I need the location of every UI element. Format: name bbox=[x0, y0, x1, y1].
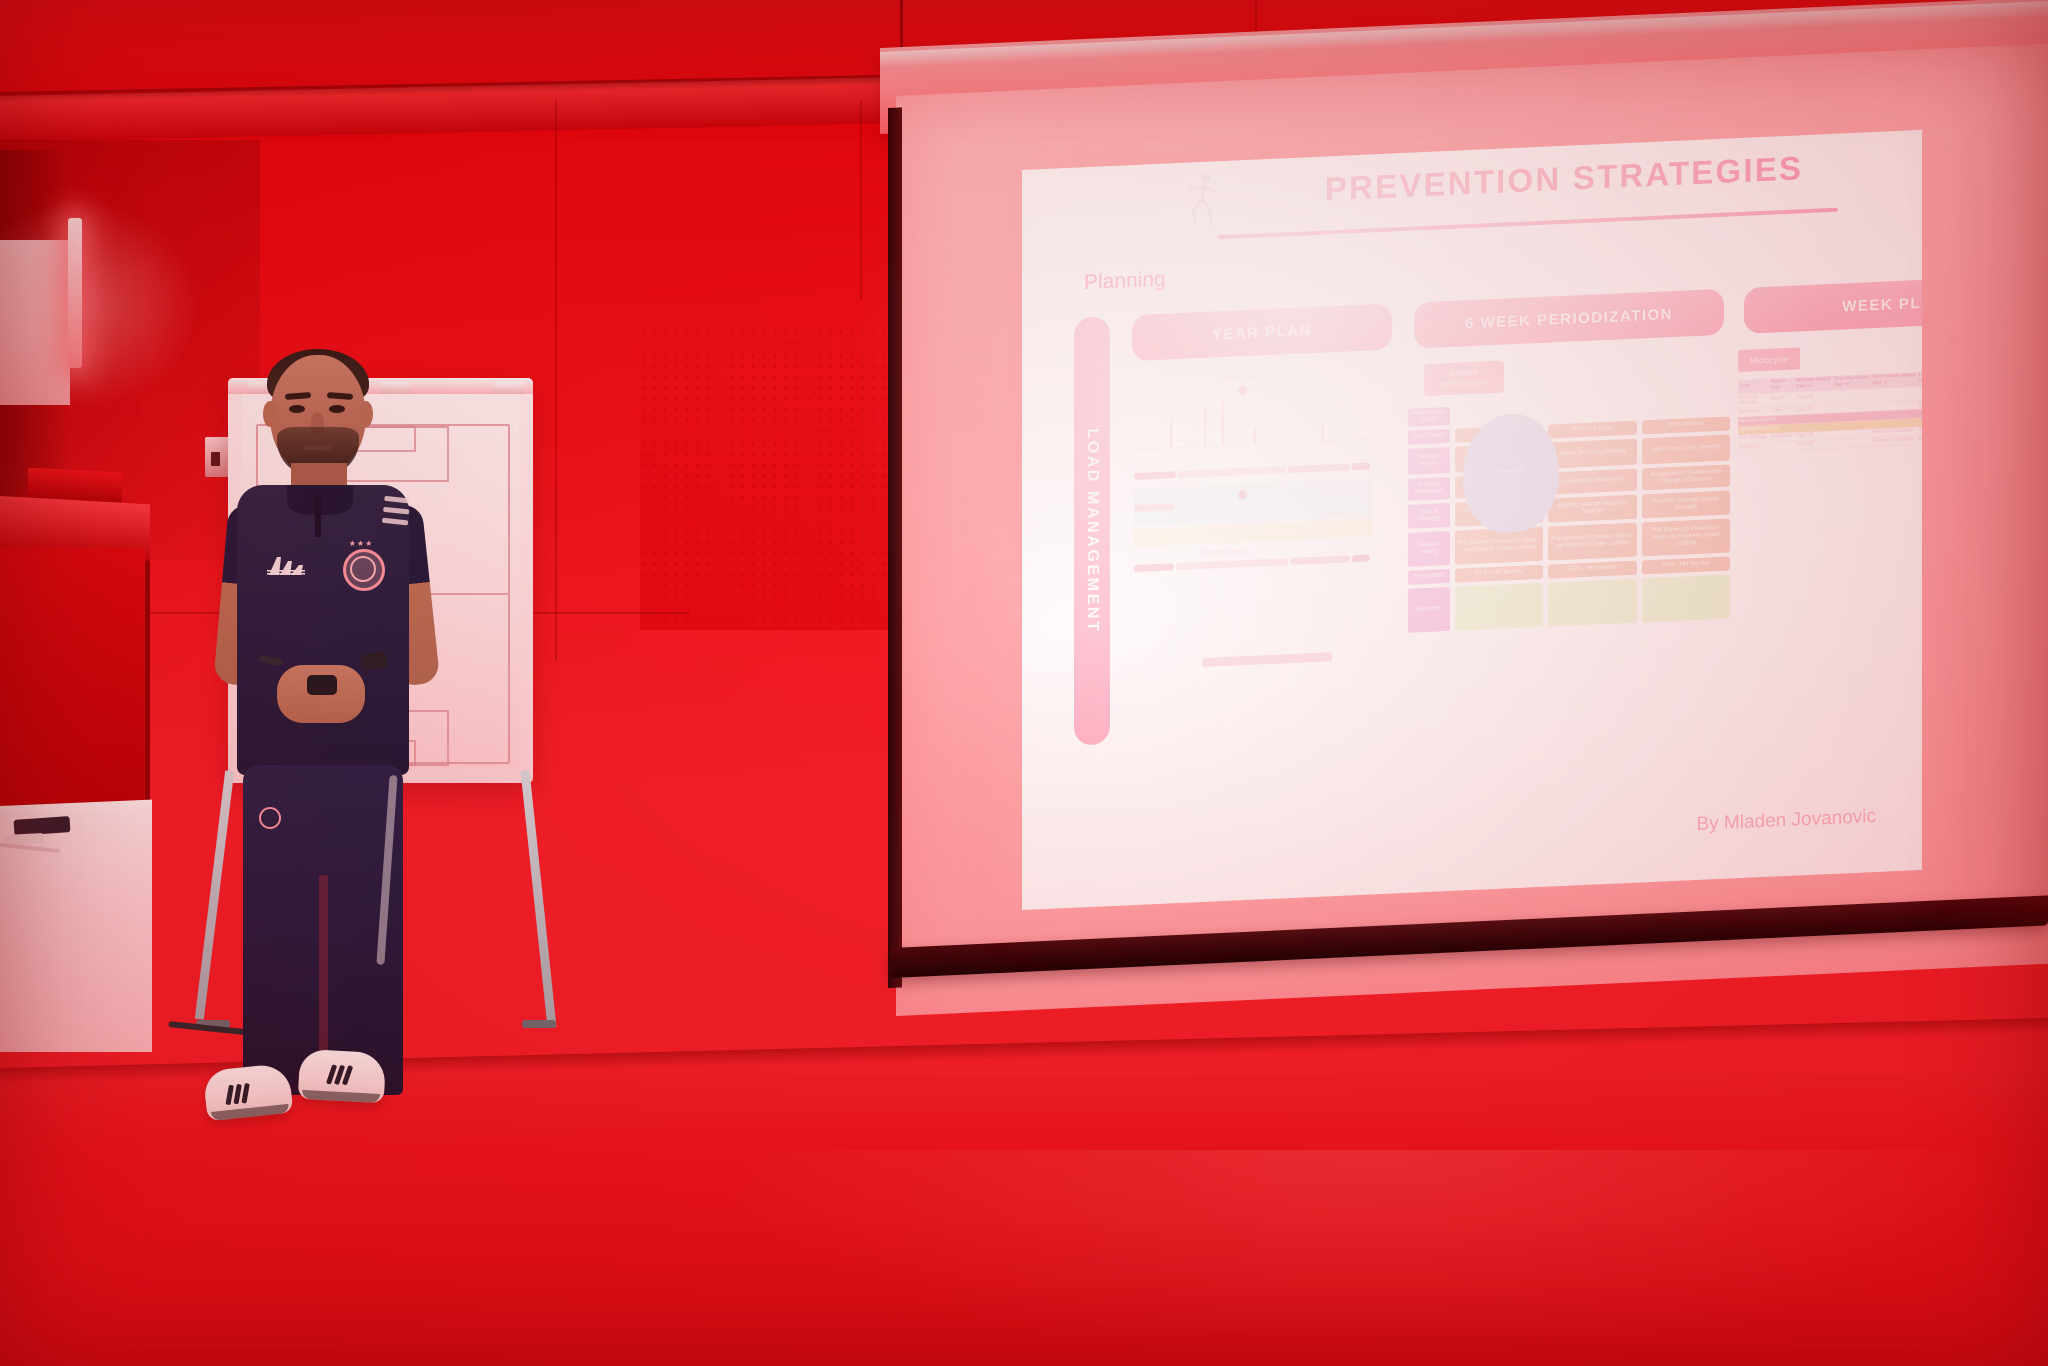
row-label: Training Movement bbox=[1408, 477, 1450, 501]
year-plan-spike bbox=[1170, 421, 1172, 447]
wall-panel-seam bbox=[860, 100, 862, 300]
table-cell: Intensive Load bbox=[1548, 420, 1636, 438]
table-cell: Match bbox=[1770, 392, 1795, 408]
table-row: Recovery bbox=[1408, 574, 1730, 632]
table-cell: Reactive Strength Elastic Strength bbox=[1642, 490, 1730, 518]
year-plan-caption-mid: Training Loads bbox=[1200, 548, 1246, 557]
table-cell: Day Off bbox=[1795, 439, 1833, 449]
table-cell: Acceleration Mechanics bbox=[1548, 468, 1636, 494]
year-plan-bar bbox=[1134, 471, 1176, 480]
presenter-remote-icon bbox=[307, 675, 337, 695]
table-cell bbox=[1917, 384, 1922, 400]
week-plan-grid: Time Match Day Monday Match Day +1 Tuesd… bbox=[1738, 366, 1922, 453]
table-cell: Activation bbox=[1738, 442, 1770, 452]
trouser-crest-icon bbox=[259, 807, 281, 829]
row-label: Type of Strength bbox=[1408, 503, 1450, 529]
column-header: Week 5-6 bbox=[1463, 412, 1559, 534]
year-plan-bar bbox=[1202, 652, 1332, 667]
column-week-plan: WEEK PLAN bbox=[1744, 274, 1922, 333]
crest-stars: ★★★ bbox=[343, 539, 379, 548]
year-plan-axis bbox=[1136, 438, 1386, 450]
slide-subtitle: Planning bbox=[1084, 268, 1166, 296]
presenter-ear-right bbox=[359, 401, 373, 427]
floor-reflection bbox=[700, 1150, 2048, 1366]
year-plan-spike bbox=[1254, 428, 1256, 444]
row-label: Session Focus bbox=[1408, 447, 1450, 475]
six-week-periodization-table: 6 Week periodization Periodization Phase… bbox=[1408, 350, 1730, 704]
table-cell: GPS - HR Monitor bbox=[1455, 565, 1543, 583]
year-plan-header: YEAR PLAN bbox=[1132, 304, 1392, 362]
table-cell: Activation bbox=[1917, 434, 1922, 445]
column-header: Thursday Match Day -2 bbox=[1917, 370, 1922, 386]
slide-byline: By Mladen Jovanovic bbox=[1696, 806, 1876, 836]
six-week-badge: 6 Week periodization bbox=[1424, 361, 1504, 397]
flipchart-clip-right bbox=[494, 382, 524, 394]
presenter-eye-right bbox=[329, 405, 345, 413]
year-plan-bar bbox=[1352, 463, 1370, 471]
shoe-sole bbox=[302, 1090, 380, 1103]
year-plan-spike bbox=[1204, 408, 1206, 446]
year-plan-bar bbox=[1352, 555, 1370, 563]
slide-title: PREVENTION STRATEGIES bbox=[1254, 146, 1874, 212]
table-cell: GPS - HR Monitor bbox=[1642, 556, 1730, 574]
table-cell: Activation bbox=[1917, 425, 1922, 436]
column-header: Match Day bbox=[1770, 378, 1795, 393]
presenter: ★★★ bbox=[215, 345, 485, 1165]
column-year-plan: YEAR PLAN bbox=[1132, 304, 1392, 362]
row-label: Recovery bbox=[1408, 587, 1450, 633]
presenter-placket bbox=[315, 497, 321, 537]
table-cell bbox=[1833, 438, 1872, 448]
year-plan-spike bbox=[1322, 421, 1324, 441]
light-strip bbox=[68, 218, 82, 368]
row-label: % of Phase bbox=[1408, 429, 1450, 445]
presenter-shoe-left bbox=[203, 1063, 294, 1122]
table-cell: Recovery bbox=[1917, 399, 1922, 410]
screen-left-edge bbox=[888, 107, 902, 988]
wall-panel-seam bbox=[555, 100, 557, 660]
table-cell: GPS - HR Monitor bbox=[1548, 560, 1636, 578]
light-wash bbox=[0, 200, 200, 410]
table-cell bbox=[1770, 441, 1795, 451]
row-label: Periodization Phase bbox=[1408, 407, 1450, 427]
load-management-bar: LOAD MANAGEMENT bbox=[1074, 316, 1110, 746]
year-plan-caption-top: Match Load bbox=[1222, 373, 1259, 382]
table-cell: Speed and Long Intensity bbox=[1642, 434, 1730, 464]
crest-inner-ring bbox=[350, 556, 376, 582]
table-cell: Physical Session bbox=[1738, 393, 1770, 409]
table-cell: Acceleration / Deceleration Change of Di… bbox=[1642, 464, 1730, 490]
load-management-label: LOAD MANAGEMENT bbox=[1074, 316, 1110, 746]
perforated-acoustic-panel bbox=[640, 330, 900, 630]
presenter-mouth bbox=[303, 445, 333, 450]
week-plan-header: WEEK PLAN bbox=[1744, 274, 1922, 333]
presenter-eye-left bbox=[289, 405, 305, 413]
adidas-logo-icon bbox=[267, 553, 307, 577]
table-cell: Intensification bbox=[1642, 416, 1730, 434]
microcycle-badge: Microcycle bbox=[1738, 347, 1800, 372]
table-cell bbox=[1548, 578, 1636, 626]
cabinet-top-object bbox=[28, 468, 122, 503]
presentation-slide: PREVENTION STRATEGIES Planning LOAD MANA… bbox=[1022, 130, 1922, 910]
table-cell bbox=[1642, 574, 1730, 622]
column-header: Time bbox=[1738, 379, 1770, 394]
table-cell: Starting Strength Reactive Strength bbox=[1548, 494, 1636, 522]
table-cell: Pre Session Prevention Warm-up Posterior… bbox=[1548, 522, 1636, 560]
presenter-shoe-right bbox=[298, 1049, 386, 1103]
year-plan-bar bbox=[1134, 563, 1174, 572]
year-plan-bar bbox=[1176, 558, 1288, 570]
shoe-sole bbox=[211, 1104, 290, 1121]
screenshot-root: OLYMPIACOS PREVENTION bbox=[0, 0, 2048, 1366]
table-cell: Pre Warm-Up Prevention Warm-up Posterior… bbox=[1642, 518, 1730, 556]
year-plan-chart: Match Load Training Loads bbox=[1126, 365, 1398, 717]
flipchart-foot-right bbox=[522, 1020, 556, 1028]
table-cell: Recovery Session bbox=[1871, 436, 1917, 447]
title-underline bbox=[1218, 208, 1838, 240]
row-label: Prevention bbox=[1408, 569, 1450, 585]
six-week-header: 6 WEEK PERIODIZATION bbox=[1414, 289, 1724, 349]
week-plan-table: Microcycle Time Match Day Monday Match D… bbox=[1738, 336, 1922, 690]
year-plan-bar bbox=[1290, 555, 1350, 565]
row-label: Session Timing bbox=[1408, 531, 1450, 567]
running-figure-icon bbox=[1180, 169, 1226, 233]
column-six-week: 6 WEEK PERIODIZATION bbox=[1414, 289, 1724, 349]
table-cell: Speed and Long Intensity bbox=[1548, 438, 1636, 468]
year-plan-marker bbox=[1238, 386, 1247, 395]
table-cell bbox=[1455, 583, 1543, 631]
year-plan-bar bbox=[1288, 463, 1350, 473]
year-plan-bar bbox=[1178, 466, 1286, 478]
year-plan-spike bbox=[1222, 401, 1224, 445]
six-week-grid: Periodization Phase Week 1-2 Week 3-4 We… bbox=[1408, 394, 1730, 636]
presenter-ear-left bbox=[263, 401, 277, 427]
